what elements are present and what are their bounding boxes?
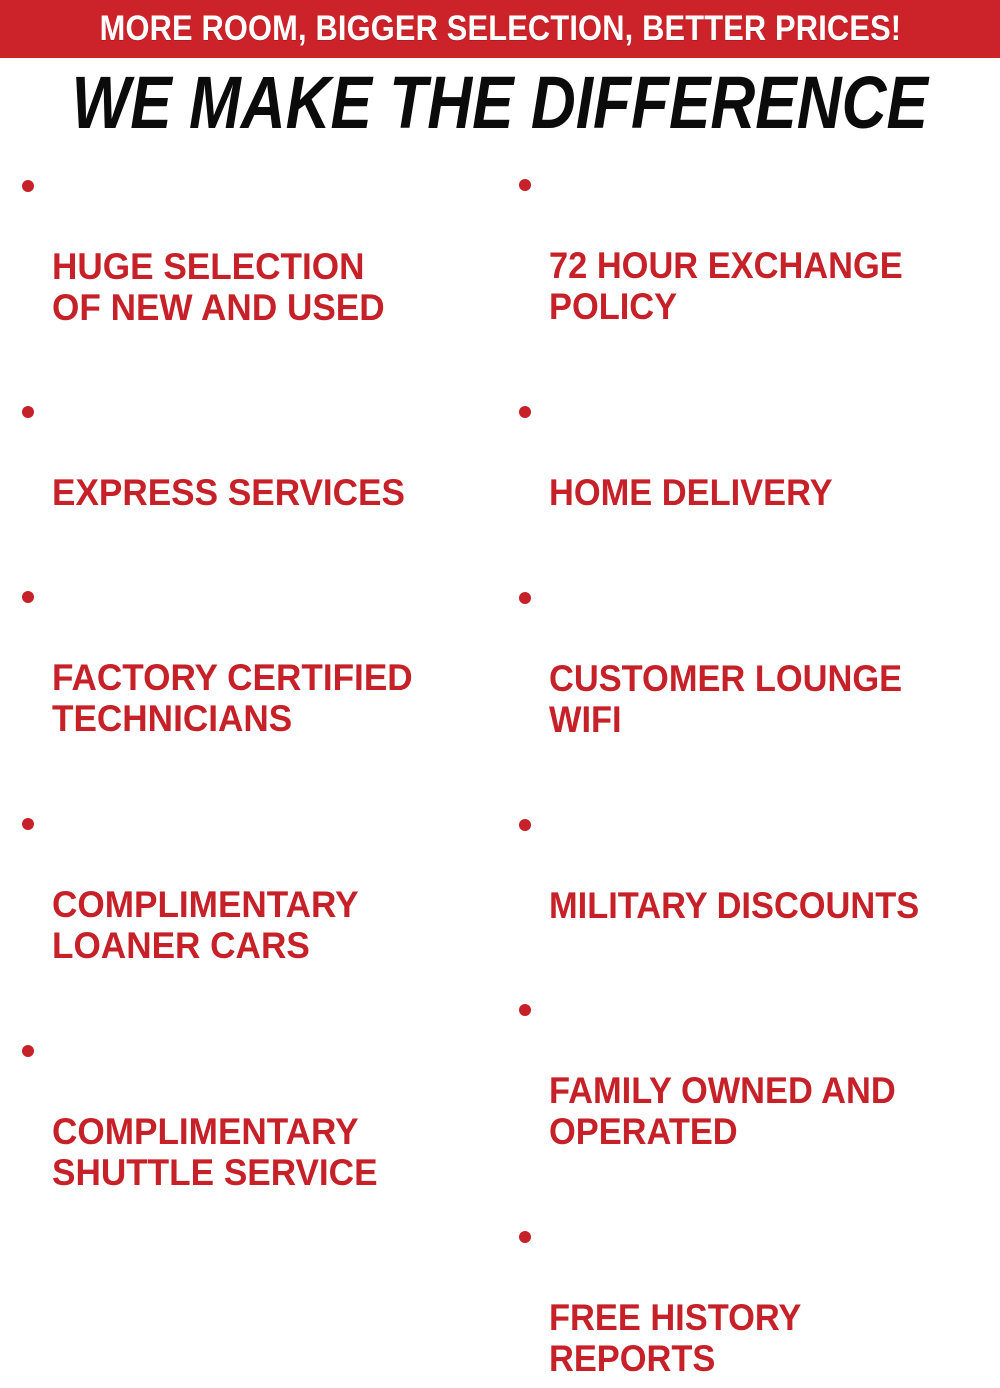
features-column-right: 72 HOUR EXCHANGE POLICY HOME DELIVERY CU… [505, 150, 1000, 694]
bullet-dot-icon [519, 179, 531, 191]
bullet-dot-icon [22, 591, 34, 603]
bullet-dot-icon [22, 1045, 34, 1057]
feature-label: FREE HISTORY REPORTS [549, 1297, 968, 1379]
feature-item: HOME DELIVERY [505, 390, 1000, 554]
feature-label: COMPLIMENTARY SHUTTLE SERVICE [52, 1111, 478, 1193]
bullet-dot-icon [22, 180, 34, 192]
banner-headline-text: MORE ROOM, BIGGER SELECTION, BETTER PRIC… [99, 11, 901, 47]
feature-label: FAMILY OWNED AND OPERATED [549, 1070, 968, 1152]
features-column-left: HUGE SELECTION OF NEW AND USED EXPRESS S… [8, 150, 500, 694]
bullet-dot-icon [519, 819, 531, 831]
feature-item: EXPRESS SERVICES [8, 390, 500, 554]
feature-item: FACTORY CERTIFIED TECHNICIANS [8, 575, 500, 780]
feature-item: HUGE SELECTION OF NEW AND USED [8, 164, 500, 369]
feature-item: COMPLIMENTARY LOANER CARS [8, 802, 500, 1007]
feature-item: CUSTOMER LOUNGE WIFI [505, 576, 1000, 781]
feature-label: CUSTOMER LOUNGE WIFI [549, 658, 968, 740]
feature-item: COMPLIMENTARY SHUTTLE SERVICE [8, 1029, 500, 1234]
main-headline: WE MAKE THE DIFFERENCE [0, 62, 1000, 144]
bullet-dot-icon [519, 1004, 531, 1016]
promotional-poster: MORE ROOM, BIGGER SELECTION, BETTER PRIC… [0, 0, 1000, 694]
bullet-dot-icon [519, 1231, 531, 1243]
bullet-dot-icon [519, 406, 531, 418]
feature-label: HUGE SELECTION OF NEW AND USED [52, 246, 478, 328]
feature-label: MILITARY DISCOUNTS [549, 885, 968, 926]
top-banner: MORE ROOM, BIGGER SELECTION, BETTER PRIC… [0, 0, 1000, 58]
features-columns: HUGE SELECTION OF NEW AND USED EXPRESS S… [0, 150, 1000, 694]
feature-item: FAMILY OWNED AND OPERATED [505, 988, 1000, 1193]
feature-item: FREE HISTORY REPORTS [505, 1215, 1000, 1388]
feature-label: COMPLIMENTARY LOANER CARS [52, 884, 478, 966]
feature-label: FACTORY CERTIFIED TECHNICIANS [52, 657, 478, 739]
bullet-dot-icon [22, 406, 34, 418]
feature-item: MILITARY DISCOUNTS [505, 803, 1000, 967]
bullet-dot-icon [519, 592, 531, 604]
feature-item: 72 HOUR EXCHANGE POLICY [505, 163, 1000, 368]
feature-label: EXPRESS SERVICES [52, 472, 478, 513]
feature-label: HOME DELIVERY [549, 472, 968, 513]
bullet-dot-icon [22, 818, 34, 830]
headline-text: WE MAKE THE DIFFERENCE [72, 65, 928, 141]
feature-label: 72 HOUR EXCHANGE POLICY [549, 245, 968, 327]
